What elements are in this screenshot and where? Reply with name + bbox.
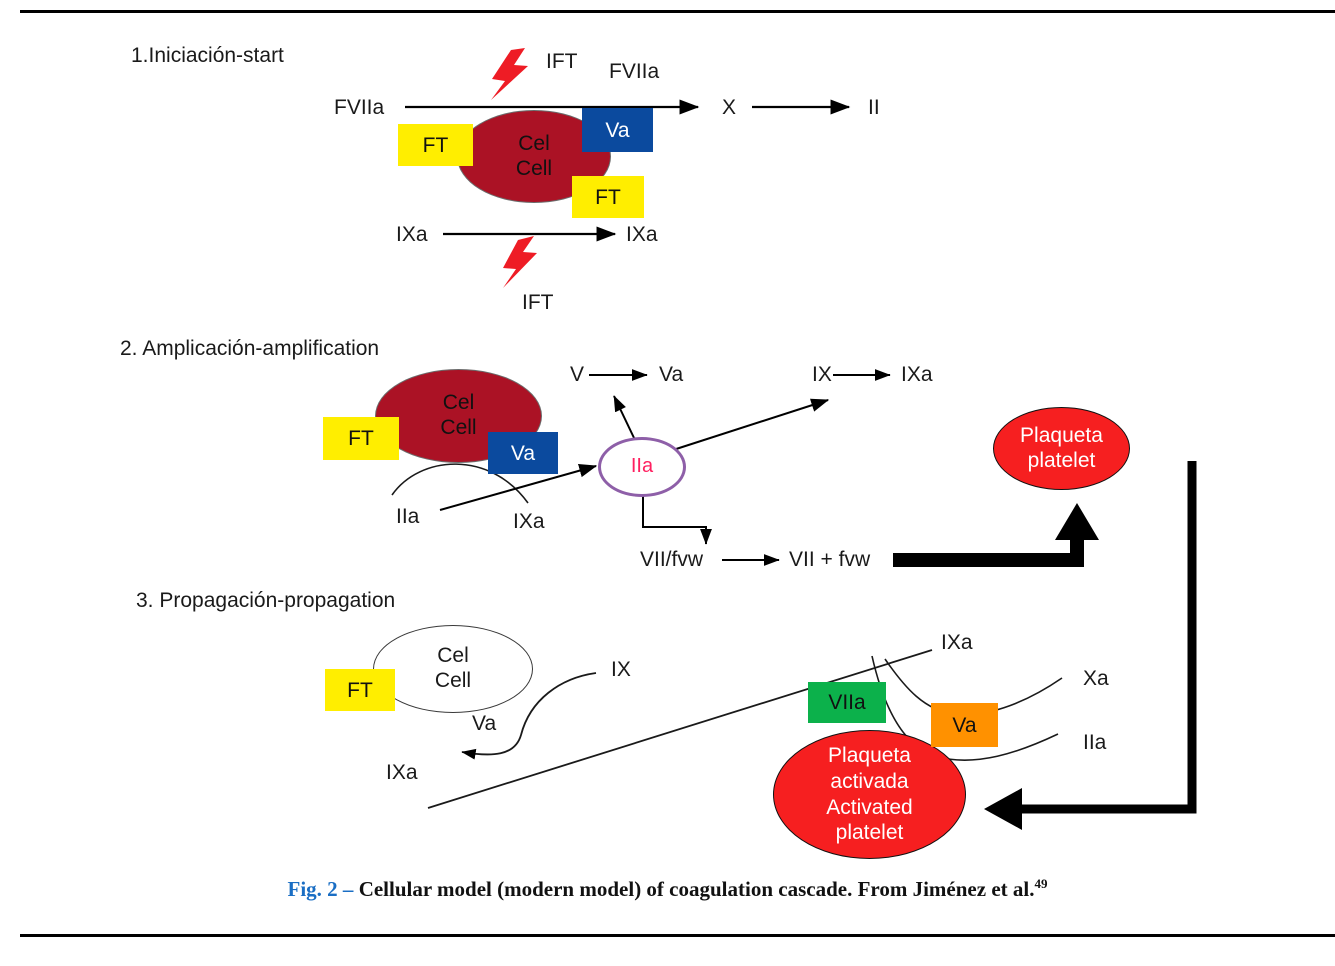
stage3-platelet-label-2: activada	[830, 769, 908, 795]
stage3-ix-label: IX	[611, 658, 631, 683]
lightning-bolt-icon-bottom	[503, 236, 537, 288]
stage3-ixa-left-label: IXa	[386, 761, 418, 786]
stage3-activated-platelet-ellipse: Plaqueta activada Activated platelet	[773, 730, 966, 859]
stage3-va-curve-label: Va	[472, 712, 496, 737]
stage1-ixa-output-label: IXa	[626, 223, 658, 248]
stage2-arrow-iia-to-viifvw	[643, 490, 706, 544]
thick-arrow-platelet-to-activated	[984, 461, 1192, 830]
stage2-viiplusfvw-label: VII + fvw	[789, 548, 870, 573]
stage2-cell-label-es: Cel	[443, 391, 475, 416]
figure-caption-text: Cellular model (modern model) of coagula…	[359, 877, 1035, 901]
stage2-iia-curve-label: IIa	[396, 505, 419, 530]
stage3-platelet-label-1: Plaqueta	[828, 743, 911, 769]
stage2-platelet-ellipse: Plaqueta platelet	[993, 407, 1130, 490]
stage1-ft-box-right: FT	[572, 176, 644, 218]
stage1-ift-label-top: IFT	[546, 50, 578, 75]
stage3-cell-label-en: Cell	[435, 669, 471, 694]
stage1-ixa-input-label: IXa	[396, 223, 428, 248]
stage3-viia-box: VIIa	[808, 682, 886, 723]
figure-number: Fig. 2 –	[288, 877, 359, 901]
stage2-title: 2. Amplicación-amplification	[120, 337, 379, 361]
stage1-cell-label-es: Cel	[518, 132, 550, 157]
stage3-cell-label-es: Cel	[437, 644, 469, 669]
lightning-bolt-icon-top	[491, 48, 528, 100]
stage1-fviia-top-label: FVIIa	[609, 60, 659, 85]
figure-caption: Fig. 2 – Cellular model (modern model) o…	[0, 876, 1335, 902]
stage1-ift-label-bottom: IFT	[522, 291, 554, 316]
stage1-ft-box-left: FT	[398, 124, 473, 166]
stage1-ii-label: II	[868, 96, 880, 121]
stage2-viifvw-label: VII/fvw	[640, 548, 703, 573]
thick-arrow-to-platelet	[893, 503, 1099, 560]
stage2-v-label: V	[570, 363, 584, 388]
stage3-ixa-top-label: IXa	[941, 631, 973, 656]
stage1-x-label: X	[722, 96, 736, 121]
stage2-arrow-iia-to-v	[614, 396, 635, 440]
figure-reference-number: 49	[1034, 876, 1047, 891]
stage3-ft-box: FT	[325, 669, 395, 711]
stage2-va-output-label: Va	[659, 363, 683, 388]
stage2-iia-circle: IIa	[598, 437, 686, 497]
stage2-platelet-label-en: platelet	[1028, 449, 1096, 474]
stage3-title: 3. Propagación-propagation	[136, 589, 395, 613]
stage2-ixa-output-label: IXa	[901, 363, 933, 388]
stage3-va-box: Va	[931, 703, 998, 747]
stage2-va-box: Va	[488, 432, 558, 474]
stage3-platelet-label-3: Activated	[826, 795, 912, 821]
stage3-iia-label: IIa	[1083, 731, 1106, 756]
stage1-cell-label-en: Cell	[516, 157, 552, 182]
stage2-arrow-iia-to-ix	[673, 400, 828, 450]
stage3-platelet-label-4: platelet	[836, 820, 904, 846]
stage1-va-box: Va	[582, 108, 653, 152]
stage1-title: 1.Iniciación-start	[131, 44, 284, 68]
stage3-cell-ellipse: Cel Cell	[373, 625, 533, 713]
stage1-fviia-input-label: FVIIa	[334, 96, 384, 121]
stage2-platelet-label-es: Plaqueta	[1020, 424, 1103, 449]
stage2-ft-box: FT	[323, 417, 399, 460]
stage2-ix-label: IX	[812, 363, 832, 388]
stage2-cell-label-en: Cell	[440, 416, 476, 441]
stage2-ixa-curve-label: IXa	[513, 510, 545, 535]
stage3-xa-label: Xa	[1083, 667, 1109, 692]
